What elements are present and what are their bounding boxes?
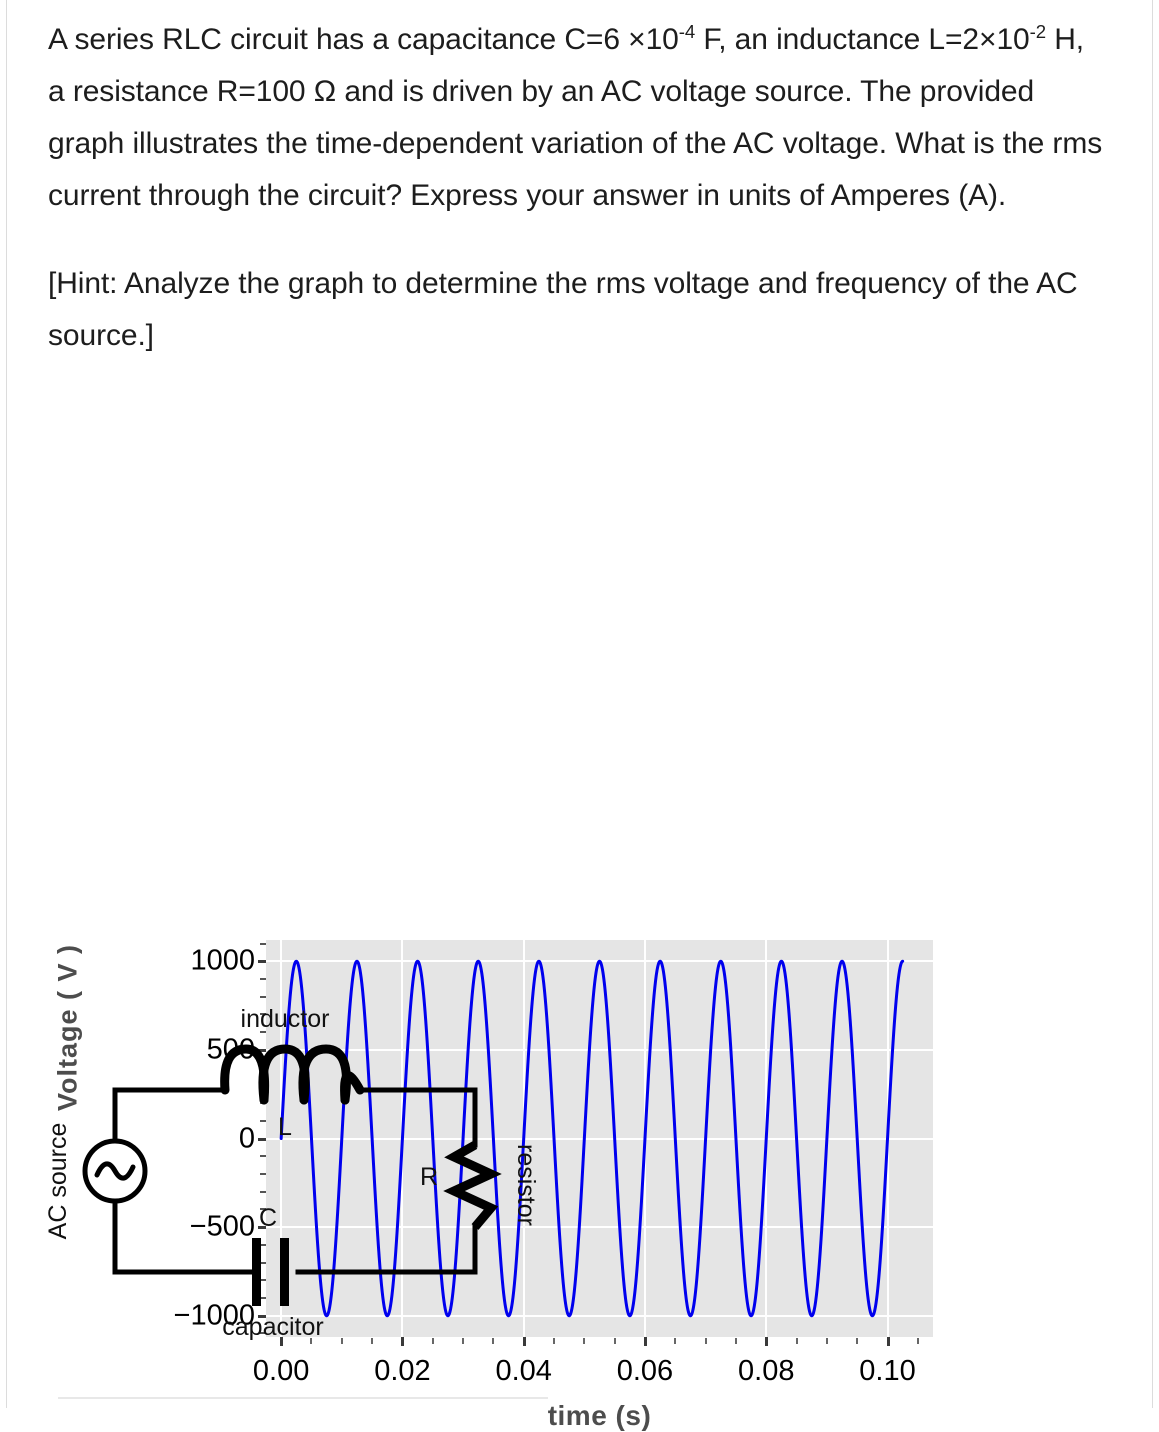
x-tick-minor (796, 1338, 798, 1344)
x-tick-minor (826, 1338, 828, 1344)
bottom-divider (58, 1397, 548, 1399)
rlc-circuit-diagram: inductor L C capacitor R resistor AC sou… (40, 1005, 560, 1345)
ac-source-symbol (85, 1141, 145, 1201)
x-tick-label: 0.00 (253, 1355, 309, 1388)
x-tick-minor (856, 1338, 858, 1344)
x-tick-label: 0.08 (738, 1355, 794, 1388)
x-tick-label: 0.04 (495, 1355, 551, 1388)
resistor-symbol-label: R (420, 1163, 438, 1191)
question-text-block: A series RLC circuit has a capacitance C… (48, 14, 1108, 362)
x-tick-major (644, 1337, 647, 1346)
x-tick-minor (705, 1338, 707, 1344)
x-tick-major (765, 1337, 768, 1346)
x-tick-label: 0.02 (374, 1355, 430, 1388)
x-tick-label: 0.06 (617, 1355, 673, 1388)
inductor-symbol-label: L (278, 1113, 292, 1141)
capacitor-symbol (252, 1238, 289, 1306)
x-tick-minor (917, 1338, 919, 1344)
question-hint: [Hint: Analyze the graph to determine th… (48, 258, 1108, 362)
question-paragraph: A series RLC circuit has a capacitance C… (48, 14, 1108, 222)
capacitor-label: capacitor (222, 1313, 323, 1341)
voltage-time-chart: Voltage ( V ) −1000−50005001000 0.000.02… (0, 452, 1159, 992)
exponent-capacitance: -4 (679, 21, 695, 42)
question-part-b: F, an inductance L=2×10 (695, 23, 1030, 56)
x-tick-minor (674, 1338, 676, 1344)
x-tick-label: 0.10 (859, 1355, 915, 1388)
chart-x-tick-labels: 0.000.020.040.060.080.10 (0, 1355, 1159, 1399)
x-tick-minor (583, 1338, 585, 1344)
exponent-inductance: -2 (1030, 21, 1046, 42)
chart-x-axis-label: time (s) (266, 1400, 933, 1432)
x-tick-minor (614, 1338, 616, 1344)
capacitor-symbol-label: C (259, 1204, 277, 1232)
resistor-label: resistor (512, 1144, 540, 1226)
ac-source-label: AC source (44, 1123, 72, 1240)
x-tick-minor (735, 1338, 737, 1344)
question-part-a: A series RLC circuit has a capacitance C… (48, 23, 679, 56)
inductor-label: inductor (241, 1005, 330, 1033)
y-tick-label: 1000 (190, 945, 255, 978)
x-tick-major (887, 1337, 890, 1346)
resistor-symbol (454, 1145, 491, 1227)
inductor-symbol (225, 1049, 360, 1100)
